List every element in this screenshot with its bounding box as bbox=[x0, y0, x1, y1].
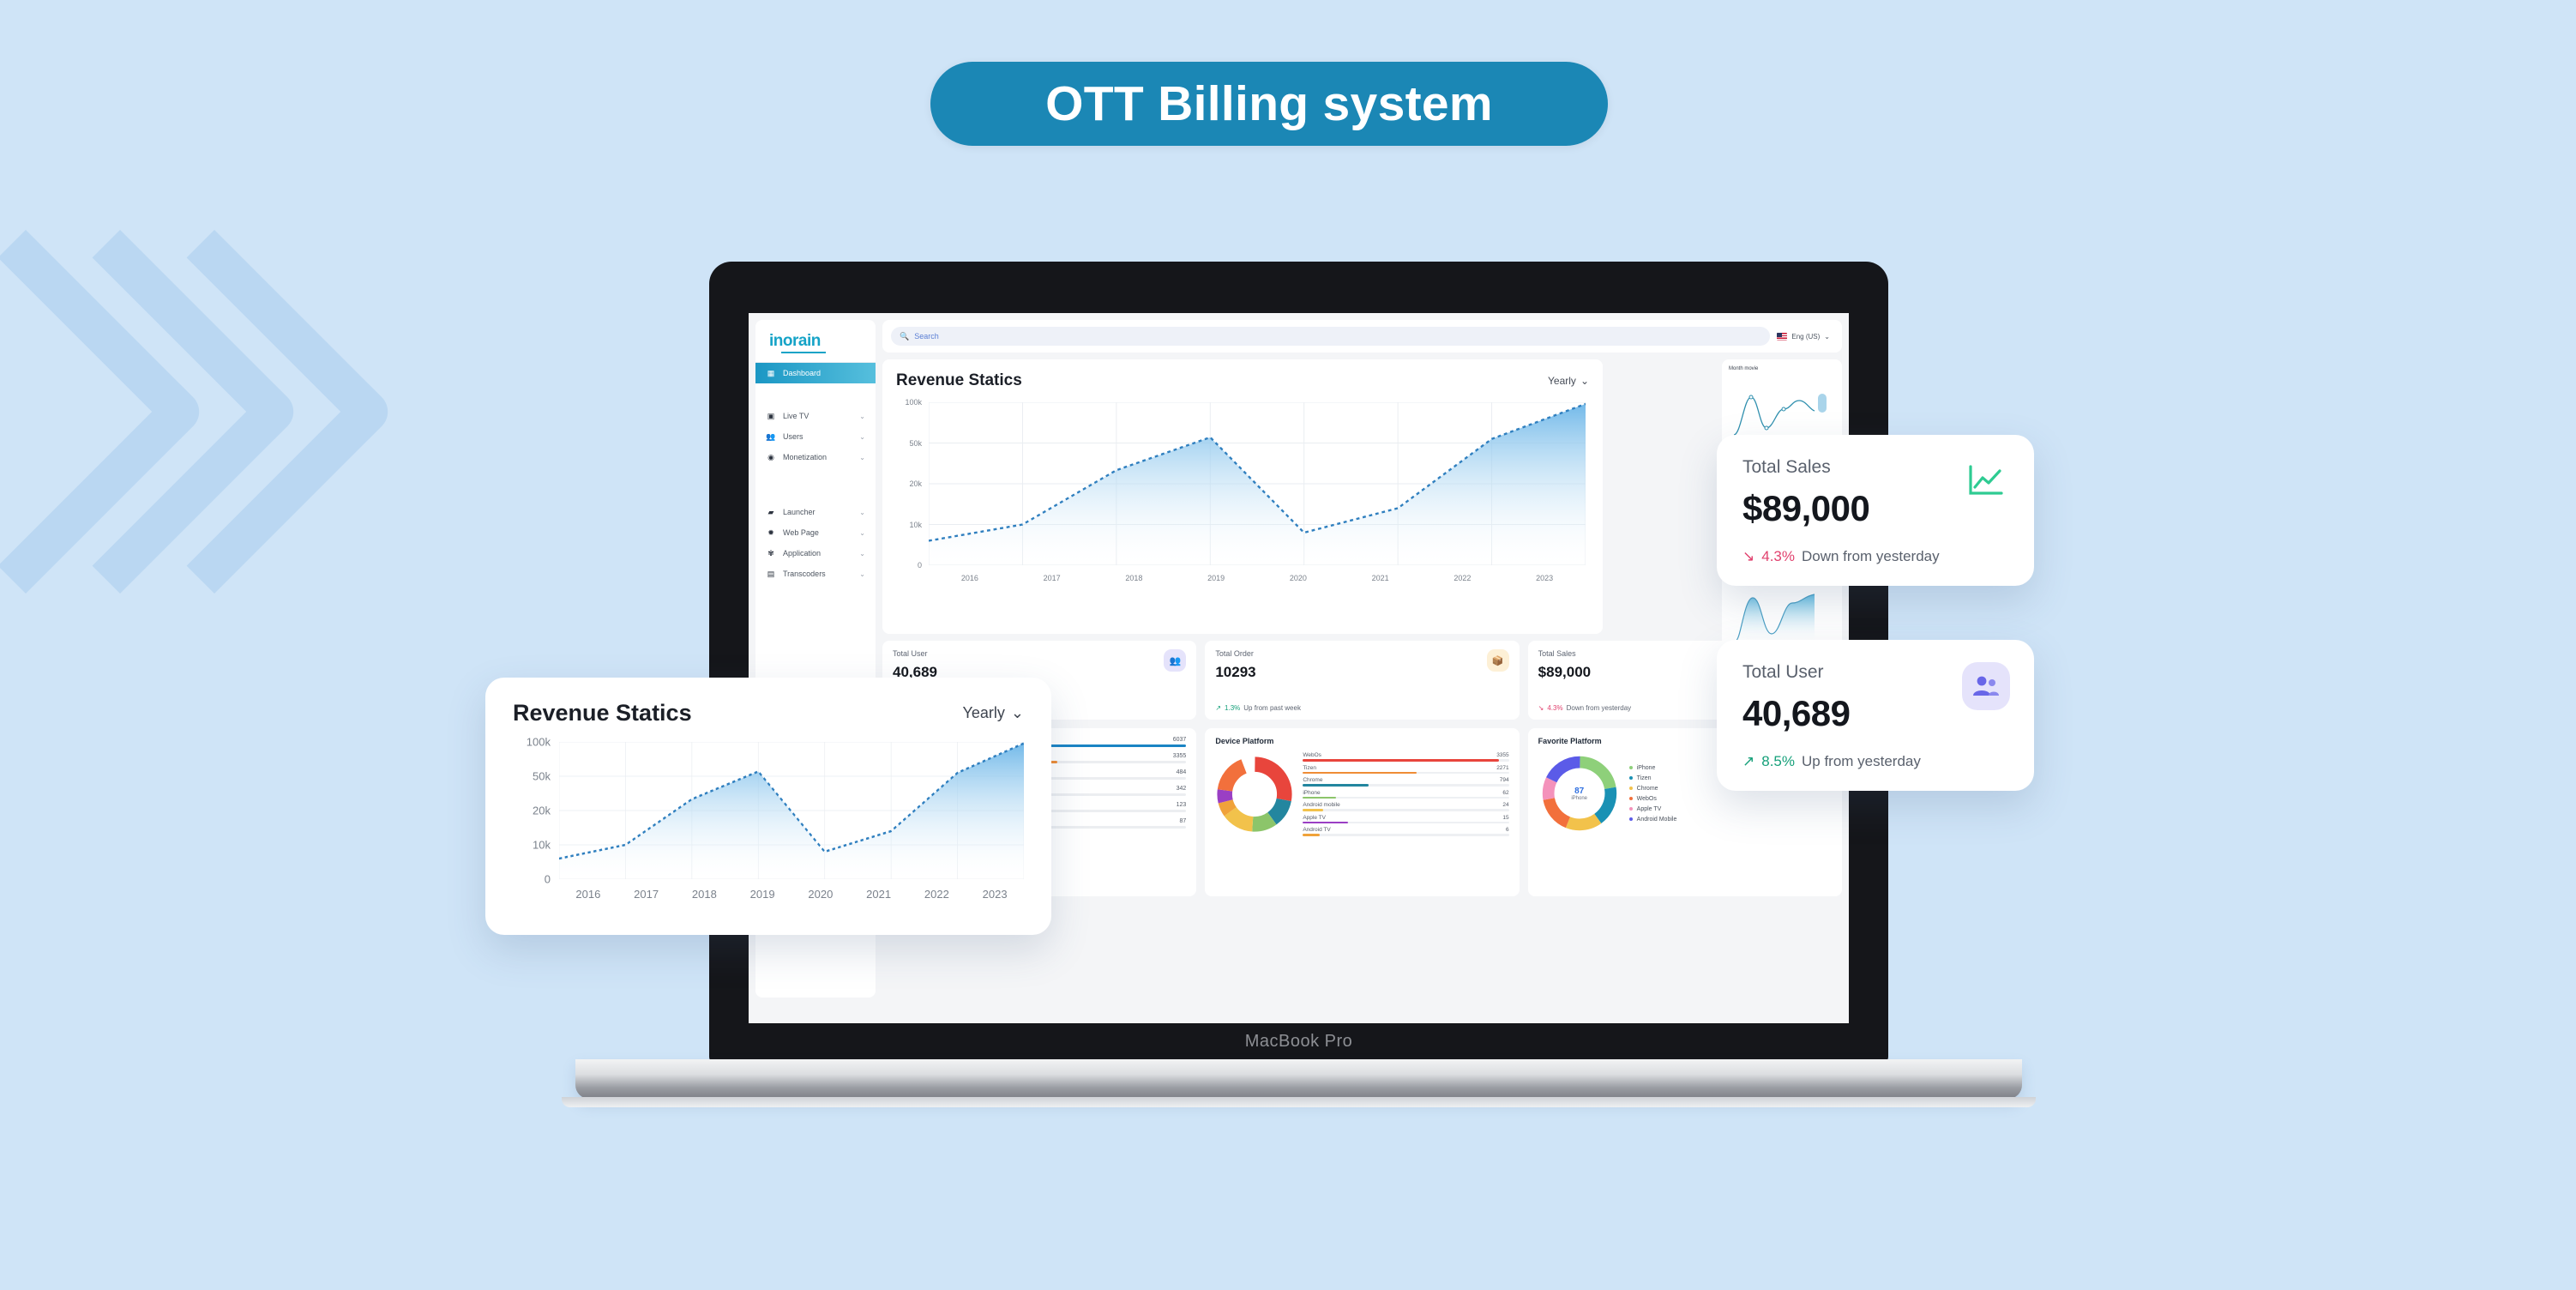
sidebar-item-label: Web Page bbox=[783, 528, 852, 537]
sidebar-item-label: Application bbox=[783, 549, 852, 558]
legend-track bbox=[1303, 822, 1508, 824]
money-icon: ◉ bbox=[766, 452, 776, 462]
period-selector[interactable]: Yearly ⌄ bbox=[963, 704, 1024, 722]
donut-center-value: 87 bbox=[1574, 787, 1584, 796]
legend-label: WebOs bbox=[1637, 796, 1657, 802]
y-tick-label: 10k bbox=[909, 521, 922, 529]
area-chart-svg bbox=[929, 402, 1586, 565]
legend-track bbox=[1303, 784, 1508, 787]
legend-color-dot bbox=[1629, 776, 1633, 780]
users-icon bbox=[1962, 662, 2010, 710]
bar-value: 3355 bbox=[1173, 753, 1187, 759]
donut-center: 87 iPhone bbox=[1538, 752, 1621, 835]
users-glyph bbox=[1971, 673, 2001, 699]
bar-value: 484 bbox=[1177, 769, 1187, 775]
puzzle-icon: ✾ bbox=[766, 548, 776, 558]
users-icon: 👥 bbox=[1164, 649, 1186, 672]
stat-delta: ↗ 1.3% Up from past week bbox=[1215, 704, 1301, 712]
delta-text: Up from yesterday bbox=[1802, 753, 1921, 770]
line-chart-icon bbox=[1962, 457, 2010, 505]
x-tick-label: 2017 bbox=[617, 888, 676, 901]
device-platform-panel: Device Platform WebOs335 bbox=[1205, 728, 1519, 896]
legend-label: iPhone bbox=[1637, 765, 1656, 771]
x-tick-label: 2017 bbox=[1011, 574, 1093, 582]
x-tick-label: 2020 bbox=[791, 888, 850, 901]
logo-underline bbox=[781, 352, 826, 353]
y-tick-label: 20k bbox=[909, 479, 922, 488]
legend-bar-item: Android mobile24 bbox=[1303, 802, 1508, 811]
favorite-donut-wrap: 87 iPhone bbox=[1538, 752, 1621, 835]
x-tick-label: 2018 bbox=[676, 888, 734, 901]
chart-title: Revenue Statics bbox=[513, 700, 692, 726]
grid-icon: ▦ bbox=[766, 368, 776, 378]
bar-value: 342 bbox=[1177, 786, 1187, 792]
legend-track bbox=[1303, 809, 1508, 811]
stat-delta: ↗ 8.5% Up from yesterday bbox=[1742, 753, 2008, 770]
legend-fill bbox=[1303, 784, 1369, 787]
x-tick-label: 2023 bbox=[1503, 574, 1586, 582]
revenue-statics-card: Revenue Statics Yearly ⌄ 100k50k20k10k0 bbox=[882, 359, 1603, 634]
legend-item: Android Mobile bbox=[1629, 817, 1832, 823]
legend-label: Tizen bbox=[1637, 775, 1652, 781]
sidebar-item-label: Monetization bbox=[783, 453, 852, 461]
launcher-icon: ▰ bbox=[766, 507, 776, 517]
legend-label: Android Mobile bbox=[1637, 817, 1677, 823]
logo-text: inorain bbox=[769, 332, 862, 351]
us-flag-icon bbox=[1777, 333, 1787, 341]
stat-label: Total Order bbox=[1215, 649, 1508, 658]
sidebar-item-dashboard[interactable]: ▦ Dashboard bbox=[755, 363, 876, 383]
y-tick-label: 50k bbox=[533, 770, 551, 783]
globe-icon: ✹ bbox=[766, 527, 776, 538]
bar-value: 6037 bbox=[1173, 737, 1187, 743]
legend-label: Chrome bbox=[1303, 777, 1322, 783]
legend-value: 2271 bbox=[1496, 765, 1508, 771]
delta-value: 1.3% bbox=[1225, 704, 1240, 712]
trend-up-icon: ↗ bbox=[1742, 753, 1754, 770]
chevron-down-icon: ⌄ bbox=[859, 509, 865, 516]
panel-title: Device Platform bbox=[1215, 737, 1508, 745]
legend-label: Chrome bbox=[1637, 786, 1658, 792]
users-icon: 👥 bbox=[766, 431, 776, 442]
y-tick-label: 50k bbox=[909, 439, 922, 448]
legend-color-dot bbox=[1629, 766, 1633, 769]
x-tick-label: 2016 bbox=[929, 574, 1011, 582]
stat-card-total-order: Total Order 10293 📦 ↗ 1.3% Up from past … bbox=[1205, 641, 1519, 720]
laptop-brand-label: MacBook Pro bbox=[709, 1032, 1888, 1052]
legend-label: Android TV bbox=[1303, 827, 1330, 833]
legend-track bbox=[1303, 797, 1508, 799]
legend-label: iPhone bbox=[1303, 790, 1320, 796]
legend-value: 3355 bbox=[1496, 752, 1508, 758]
x-axis: 20162017201820192020202120222023 bbox=[559, 888, 1024, 901]
legend-bar-item: Tizen2271 bbox=[1303, 765, 1508, 775]
sidebar-item-web-page[interactable]: ✹ Web Page ⌄ bbox=[755, 522, 876, 543]
stat-value: 10293 bbox=[1215, 664, 1508, 681]
chevron-down-icon: ⌄ bbox=[1011, 704, 1024, 722]
chevron-down-icon: ⌄ bbox=[859, 570, 865, 578]
chart-plot: 100k50k20k10k0 2016201720182019202020212… bbox=[513, 742, 1024, 918]
legend-fill bbox=[1303, 822, 1348, 824]
legend-track bbox=[1303, 759, 1508, 762]
chevron-down-icon: ⌄ bbox=[1580, 375, 1589, 387]
bar-value: 87 bbox=[1180, 818, 1187, 824]
sidebar-item-label: Dashboard bbox=[783, 369, 865, 377]
delta-text: Up from past week bbox=[1243, 704, 1301, 712]
legend-label: Apple TV bbox=[1303, 815, 1326, 821]
stat-label: Total User bbox=[893, 649, 1186, 658]
laptop-base bbox=[575, 1059, 2022, 1099]
legend-fill bbox=[1303, 759, 1498, 762]
delta-value: 8.5% bbox=[1761, 753, 1795, 770]
x-tick-label: 2019 bbox=[1175, 574, 1257, 582]
laptop-lid: inorain ▦ Dashboard ▣ Live TV ⌄ 👥 bbox=[709, 262, 1888, 1064]
x-tick-label: 2019 bbox=[733, 888, 791, 901]
chevron-down-icon: ⌄ bbox=[859, 454, 865, 461]
laptop-mockup: inorain ▦ Dashboard ▣ Live TV ⌄ 👥 bbox=[709, 262, 1888, 1068]
sidebar-item-monetization[interactable]: ◉ Monetization ⌄ bbox=[755, 447, 876, 467]
chevron-down-icon: ⌄ bbox=[859, 413, 865, 420]
legend-item: Apple TV bbox=[1629, 806, 1832, 812]
chevron-down-icon: ⌄ bbox=[859, 529, 865, 537]
sidebar-item-live-tv[interactable]: ▣ Live TV ⌄ bbox=[755, 406, 876, 426]
trend-down-icon: ↘ bbox=[1742, 548, 1754, 565]
period-label: Yearly bbox=[963, 704, 1005, 722]
chart-header: Revenue Statics Yearly ⌄ bbox=[513, 700, 1024, 726]
search-input[interactable]: 🔍 Search bbox=[891, 327, 1770, 346]
sidebar-item-label: Users bbox=[783, 432, 852, 441]
legend-value: 15 bbox=[1502, 815, 1508, 821]
sidebar-item-label: Transcoders bbox=[783, 570, 852, 578]
legend-fill bbox=[1303, 834, 1319, 836]
tv-icon: ▣ bbox=[766, 411, 776, 421]
plot-area bbox=[559, 742, 1024, 879]
legend-label: Android mobile bbox=[1303, 802, 1339, 808]
device-donut-chart bbox=[1215, 755, 1294, 834]
stat-delta: ↘ 4.3% Down from yesterday bbox=[1538, 704, 1632, 712]
legend-track bbox=[1303, 772, 1508, 775]
legend-bar-item: Chrome794 bbox=[1303, 777, 1508, 787]
chevron-shape bbox=[0, 230, 302, 594]
legend-fill bbox=[1303, 797, 1335, 799]
x-tick-label: 2022 bbox=[908, 888, 966, 901]
topbar: 🔍 Search Eng (US) ⌄ bbox=[882, 320, 1842, 353]
legend-track bbox=[1303, 834, 1508, 836]
trend-down-icon: ↘ bbox=[1538, 704, 1544, 712]
y-tick-label: 0 bbox=[545, 873, 551, 886]
legend-value: 24 bbox=[1502, 802, 1508, 808]
floating-total-user-card: Total User 40,689 ↗ 8.5% Up from yesterd… bbox=[1717, 640, 2034, 791]
delta-text: Down from yesterday bbox=[1567, 704, 1632, 712]
legend-color-dot bbox=[1629, 797, 1633, 800]
chart-header: Revenue Statics Yearly ⌄ bbox=[896, 371, 1589, 390]
legend-color-dot bbox=[1629, 807, 1633, 811]
x-tick-label: 2021 bbox=[1339, 574, 1422, 582]
delta-value: 4.3% bbox=[1761, 548, 1795, 565]
trend-up-icon: ↗ bbox=[1215, 704, 1221, 712]
legend-value: 62 bbox=[1502, 790, 1508, 796]
x-tick-label: 2021 bbox=[850, 888, 908, 901]
y-tick-label: 20k bbox=[533, 805, 551, 817]
y-tick-label: 100k bbox=[527, 736, 551, 749]
language-label: Eng (US) bbox=[1791, 333, 1820, 341]
transcoder-icon: ▤ bbox=[766, 569, 776, 579]
stat-delta: ↘ 4.3% Down from yesterday bbox=[1742, 548, 2008, 565]
area-chart-svg bbox=[1729, 577, 1835, 648]
legend-label: Tizen bbox=[1303, 765, 1316, 771]
chevron-down-icon: ⌄ bbox=[859, 550, 865, 558]
period-label: Yearly bbox=[1548, 375, 1576, 387]
app-logo[interactable]: inorain bbox=[755, 320, 876, 363]
device-donut-row: WebOs3355 Tizen2271 Chrome794 iPhone62 A… bbox=[1215, 752, 1508, 836]
x-tick-label: 2023 bbox=[966, 888, 1024, 901]
x-tick-label: 2022 bbox=[1422, 574, 1504, 582]
x-axis: 20162017201820192020202120222023 bbox=[929, 574, 1586, 582]
sidebar-item-transcoders[interactable]: ▤ Transcoders ⌄ bbox=[755, 564, 876, 584]
delta-text: Down from yesterday bbox=[1802, 548, 1940, 565]
box-icon: 📦 bbox=[1487, 649, 1509, 672]
y-tick-label: 0 bbox=[918, 561, 922, 570]
sidebar-spacer bbox=[755, 467, 876, 502]
legend-label: WebOs bbox=[1303, 752, 1321, 758]
legend-value: 6 bbox=[1506, 827, 1509, 833]
sidebar-item-application[interactable]: ✾ Application ⌄ bbox=[755, 543, 876, 564]
area-chart-svg bbox=[559, 742, 1024, 879]
language-selector[interactable]: Eng (US) ⌄ bbox=[1777, 333, 1833, 341]
floating-total-sales-card: Total Sales $89,000 ↘ 4.3% Down from yes… bbox=[1717, 435, 2034, 586]
y-tick-label: 10k bbox=[533, 839, 551, 852]
sidebar-item-label: Live TV bbox=[783, 412, 852, 420]
delta-value: 4.3% bbox=[1547, 704, 1562, 712]
chevron-shape bbox=[33, 230, 396, 594]
legend-fill bbox=[1303, 772, 1416, 775]
legend-fill bbox=[1303, 809, 1323, 811]
sidebar-item-users[interactable]: 👥 Users ⌄ bbox=[755, 426, 876, 447]
line-chart-svg bbox=[1729, 375, 1835, 442]
plot-area bbox=[929, 402, 1586, 565]
legend-item: WebOs bbox=[1629, 796, 1832, 802]
legend-color-dot bbox=[1629, 817, 1633, 821]
sidebar-spacer bbox=[755, 383, 876, 406]
title-banner: OTT Billing system bbox=[930, 62, 1608, 146]
legend-bar-item: WebOs3355 bbox=[1303, 752, 1508, 762]
laptop-foot bbox=[562, 1097, 2036, 1107]
y-axis: 100k50k20k10k0 bbox=[896, 402, 925, 565]
x-tick-label: 2020 bbox=[1257, 574, 1339, 582]
line-chart-glyph bbox=[1967, 464, 2005, 498]
legend-bar-item: Apple TV15 bbox=[1303, 815, 1508, 824]
chevron-down-icon: ⌄ bbox=[859, 433, 865, 441]
y-tick-label: 100k bbox=[905, 398, 922, 407]
legend-color-dot bbox=[1629, 787, 1633, 790]
sidebar-item-launcher[interactable]: ▰ Launcher ⌄ bbox=[755, 502, 876, 522]
page-title: OTT Billing system bbox=[1045, 75, 1493, 132]
chevron-down-icon: ⌄ bbox=[1824, 333, 1830, 341]
legend-bar-item: Android TV6 bbox=[1303, 827, 1508, 836]
donut-center-label: iPhone bbox=[1571, 796, 1587, 801]
y-axis: 100k50k20k10k0 bbox=[513, 742, 554, 879]
x-tick-label: 2018 bbox=[1093, 574, 1176, 582]
search-placeholder: Search bbox=[914, 332, 939, 341]
chevron-shape bbox=[0, 230, 208, 594]
chart-plot: 100k50k20k10k0 bbox=[896, 402, 1589, 600]
period-selector[interactable]: Yearly ⌄ bbox=[1548, 375, 1589, 387]
panel-title: Month movie bbox=[1729, 366, 1835, 371]
search-icon: 🔍 bbox=[900, 332, 909, 341]
bar-value: 123 bbox=[1177, 802, 1187, 808]
sidebar-item-label: Launcher bbox=[783, 508, 852, 516]
legend-value: 794 bbox=[1500, 777, 1509, 783]
chart-title: Revenue Statics bbox=[896, 371, 1022, 390]
legend-label: Apple TV bbox=[1637, 806, 1662, 812]
legend-bar-item: iPhone62 bbox=[1303, 790, 1508, 799]
device-legend-list: WebOs3355 Tizen2271 Chrome794 iPhone62 A… bbox=[1303, 752, 1508, 836]
floating-revenue-card: Revenue Statics Yearly ⌄ 100k50k20k10k0 … bbox=[485, 678, 1051, 935]
x-tick-label: 2016 bbox=[559, 888, 617, 901]
